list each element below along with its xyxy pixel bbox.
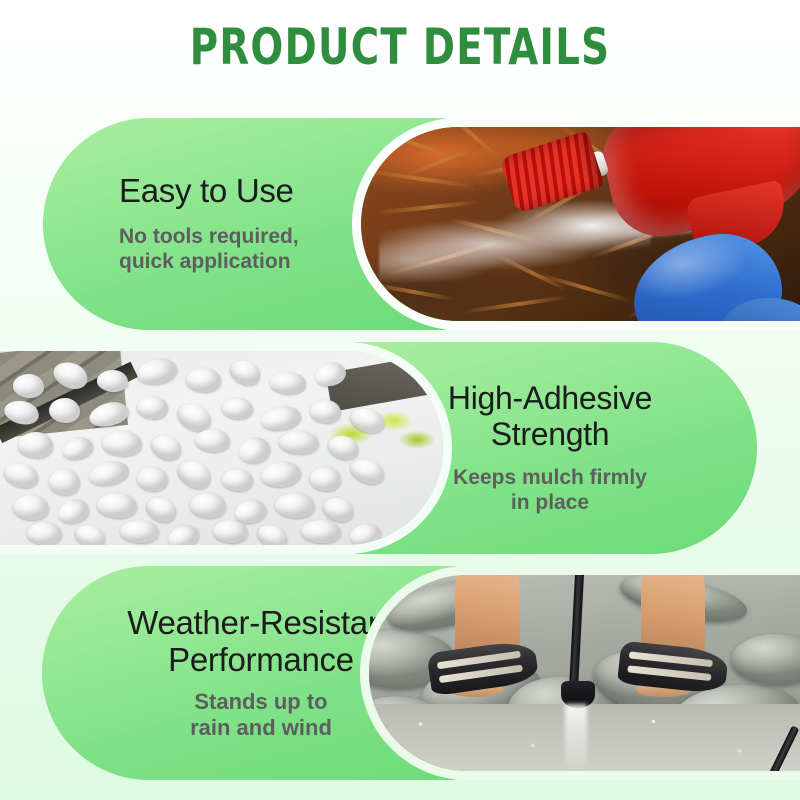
feature-title-line: Strength (448, 417, 652, 453)
feature-title-line: Weather-Resistant (127, 605, 395, 642)
feature-subtitle: Stands up to rain and wind (190, 689, 332, 742)
feature-title-line: High-Adhesive (448, 381, 652, 417)
feature-subtitle-line: Keeps mulch firmly (453, 465, 647, 490)
feature-subtitle-line: Stands up to (190, 689, 332, 715)
feature-title: Weather-Resistant Performance (127, 605, 395, 679)
spray-bottle-on-mulch-photo (352, 118, 800, 330)
feature-subtitle-line: quick application (119, 249, 299, 274)
feature-subtitle-line: No tools required, (119, 224, 299, 249)
sandal-strap (627, 665, 711, 681)
feature-subtitle-line: in place (453, 490, 647, 515)
feature-row-high-adhesive-strength: High-Adhesive Strength Keeps mulch firml… (0, 342, 800, 554)
page-title: PRODUCT DETAILS (56, 0, 744, 72)
feature-subtitle: Keeps mulch firmly in place (453, 465, 647, 515)
feature-title-line: Performance (127, 642, 395, 679)
spray-mist (379, 197, 651, 282)
spray-wand-stream (565, 704, 587, 767)
feature-subtitle: No tools required, quick application (119, 224, 299, 274)
feet-on-gravel-rocks-photo (360, 566, 800, 780)
feature-title: High-Adhesive Strength (448, 381, 652, 453)
feature-row-weather-resistant-performance: Weather-Resistant Performance Stands up … (0, 566, 800, 780)
white-pebble-bed-photo (0, 342, 452, 554)
feature-row-easy-to-use: Easy to Use No tools required, quick app… (0, 118, 800, 330)
sandal-strap (628, 651, 712, 667)
white-pebbles (0, 351, 443, 545)
feature-subtitle-line: rain and wind (190, 715, 332, 741)
feature-title: Easy to Use (119, 173, 294, 210)
